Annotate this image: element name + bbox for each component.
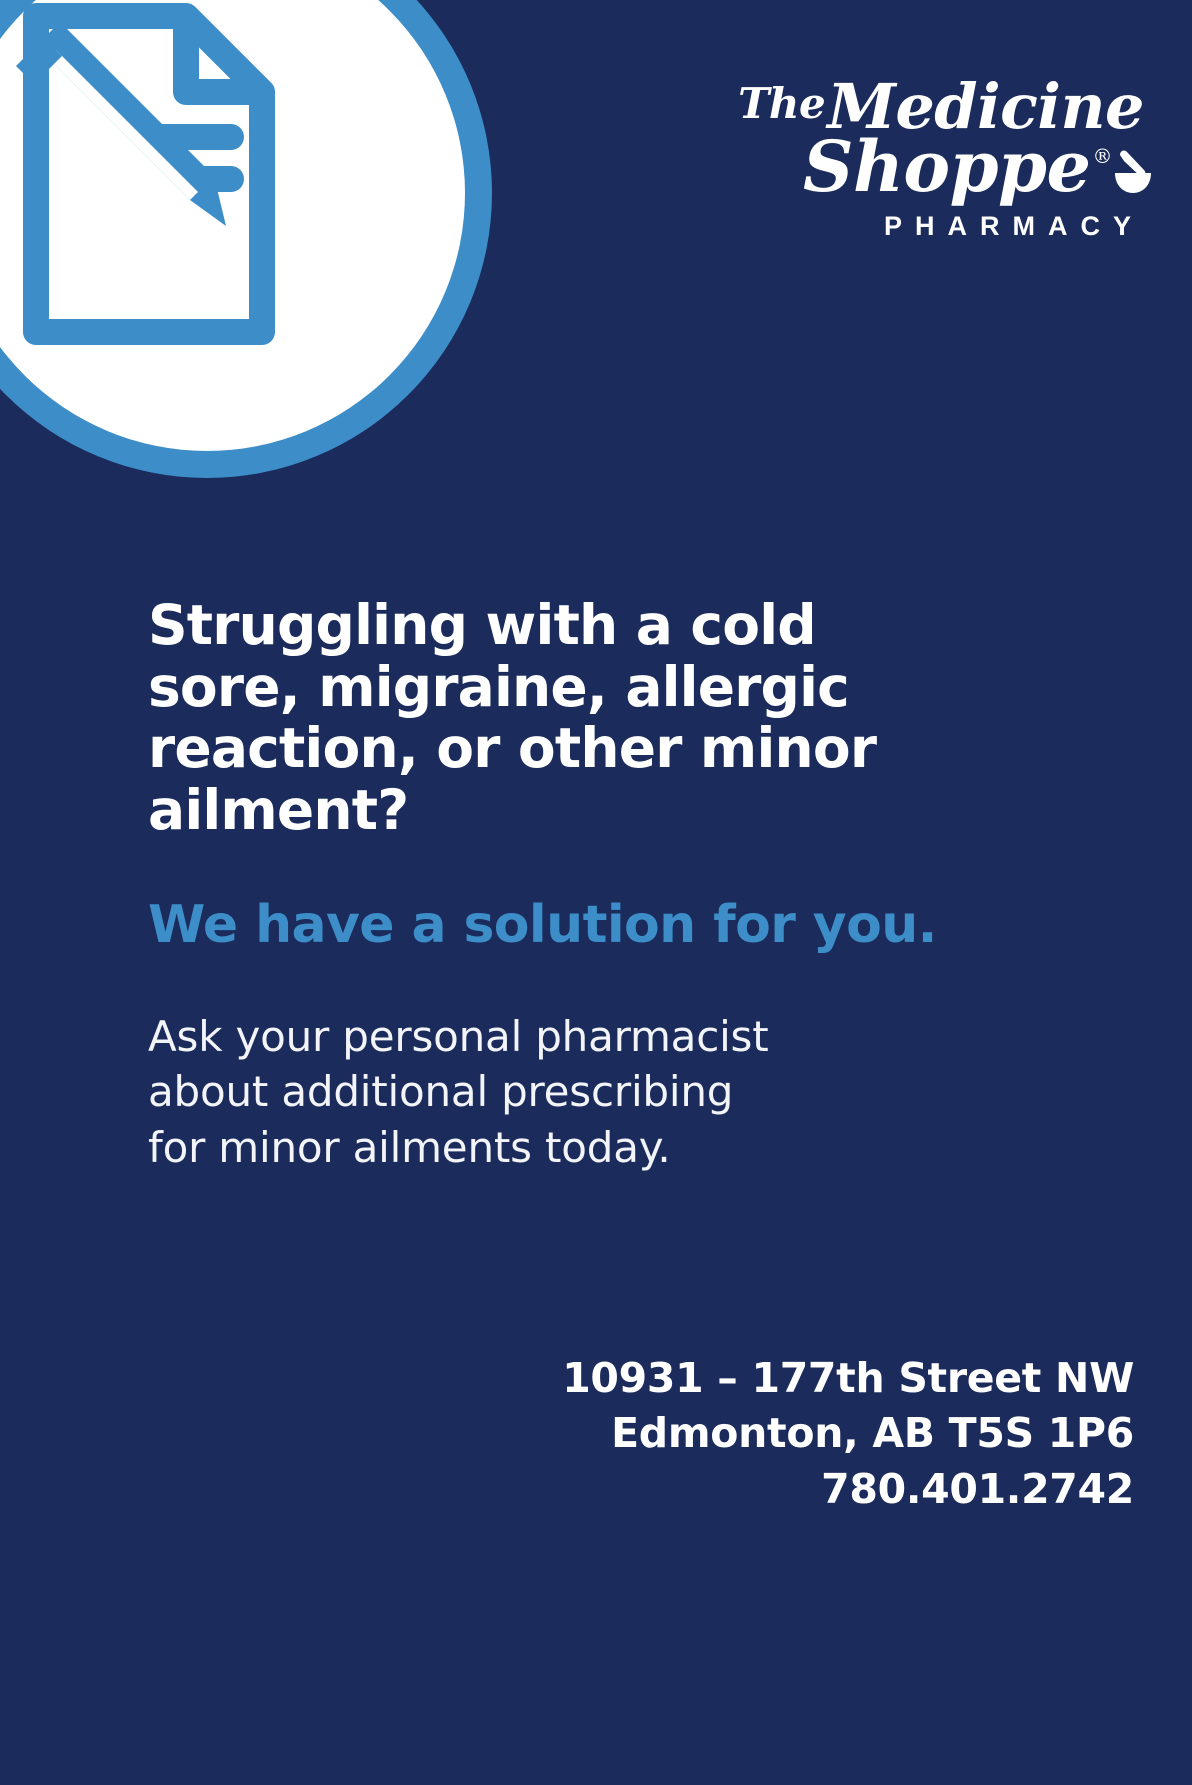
brand-logo: TheMedicine Shoppe® PHARMACY (724, 78, 1144, 242)
logo-line-two: Shoppe® (734, 135, 1154, 199)
logo-wordmark: TheMedicine Shoppe® (724, 78, 1144, 199)
document-with-pencil-icon (0, 0, 352, 360)
address-city: Edmonton, AB T5S 1P6 (562, 1406, 1134, 1461)
address-block: 10931 – 177th Street NW Edmonton, AB T5S… (562, 1351, 1134, 1517)
body-line-1: Ask your personal pharmacist (148, 1009, 1068, 1065)
logo-tagline: PHARMACY (724, 211, 1144, 242)
body-line-3: for minor ailments today. (148, 1120, 1068, 1176)
body-copy: Ask your personal pharmacist about addit… (148, 1009, 1068, 1177)
logo-shoppe-text: Shoppe (803, 125, 1091, 208)
mortar-and-pestle-icon (1112, 149, 1154, 195)
address-street: 10931 – 177th Street NW (562, 1351, 1134, 1406)
logo-the-text: The (738, 79, 825, 128)
phone-number: 780.401.2742 (562, 1462, 1134, 1517)
poster-canvas: TheMedicine Shoppe® PHARMACY Struggling … (0, 0, 1192, 1785)
copy-block: Struggling with a cold sore, migraine, a… (148, 595, 1068, 1176)
circular-badge (0, 0, 492, 478)
registered-trademark-icon: ® (1093, 144, 1113, 168)
subheadline: We have a solution for you. (148, 897, 1068, 954)
body-line-2: about additional prescribing (148, 1064, 1068, 1120)
headline: Struggling with a cold sore, migraine, a… (148, 595, 978, 841)
